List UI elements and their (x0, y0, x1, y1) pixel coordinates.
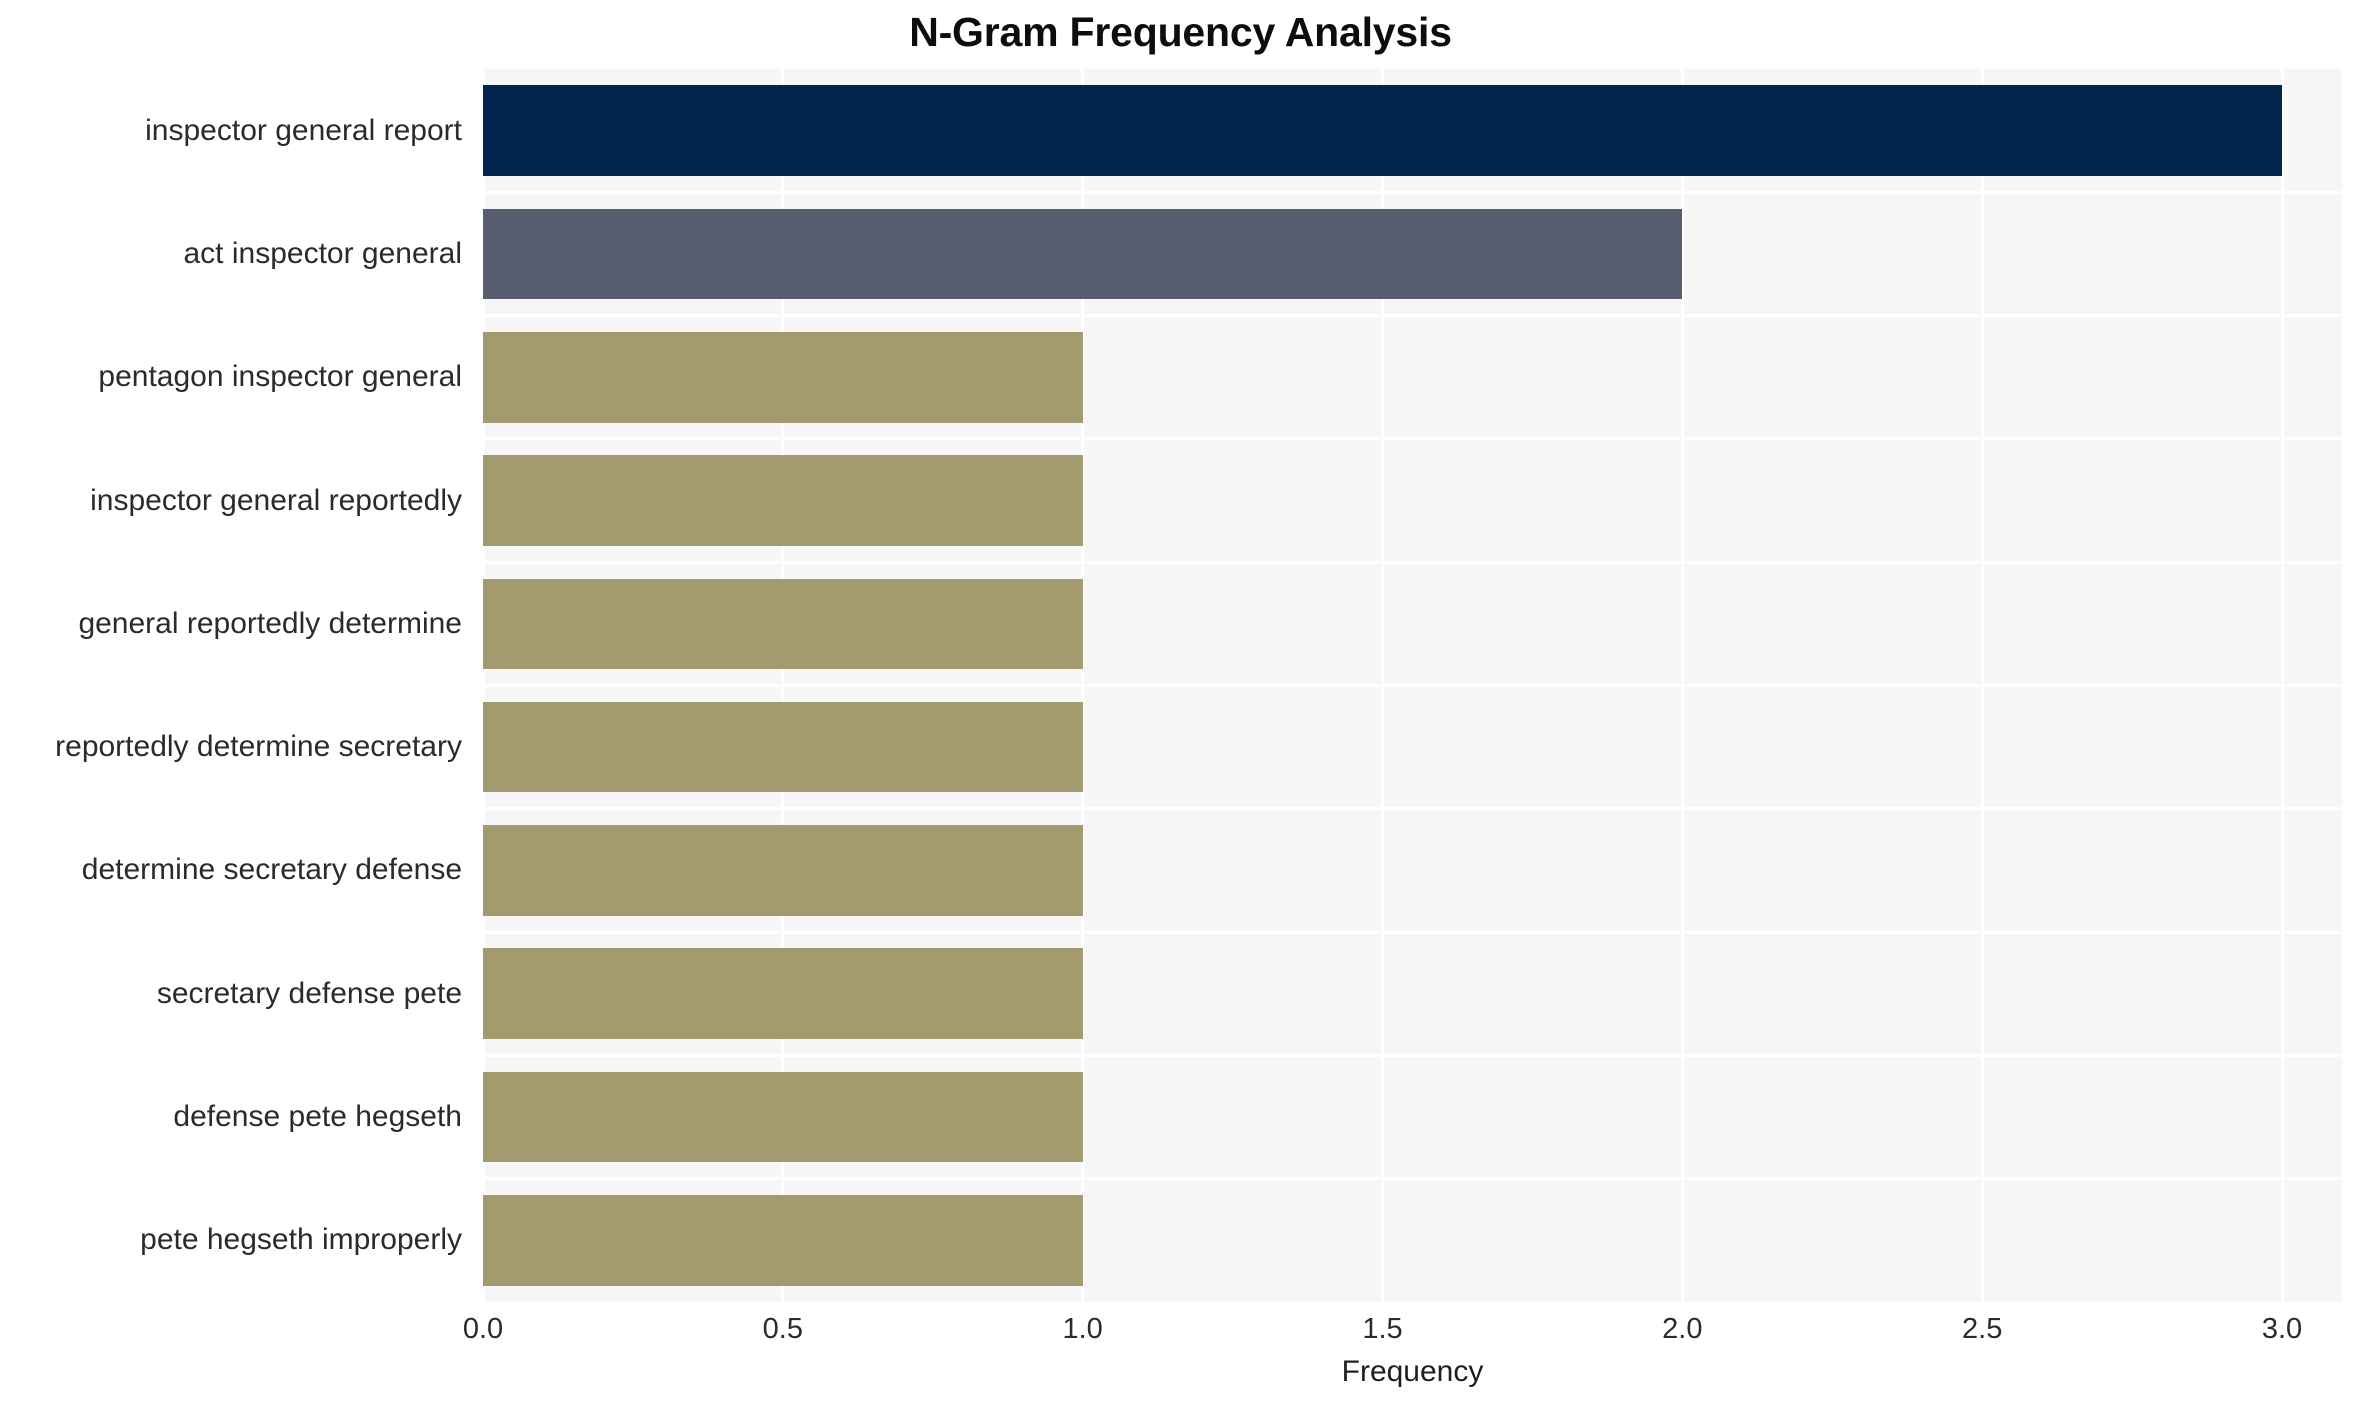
bar-row (483, 825, 2342, 916)
bar[interactable] (483, 209, 1682, 300)
x-axis-tick-label: 3.0 (2202, 1312, 2361, 1346)
x-axis-tick-label: 1.5 (1303, 1312, 1463, 1346)
y-axis-tick-label: inspector general reportedly (0, 484, 462, 518)
plot-area (483, 69, 2342, 1302)
x-axis-tick-label: 1.0 (1003, 1312, 1163, 1346)
x-axis-label: Frequency (483, 1354, 2342, 1390)
y-axis-tick-label: inspector general report (0, 114, 462, 148)
gridline-horizontal (483, 1177, 2342, 1180)
y-axis-tick-label: defense pete hegseth (0, 1100, 462, 1134)
x-axis-tick-label: 0.0 (403, 1312, 563, 1346)
bar-row (483, 1072, 2342, 1163)
bar[interactable] (483, 85, 2282, 176)
gridline-horizontal (483, 437, 2342, 440)
bar-row (483, 209, 2342, 300)
gridline-horizontal (483, 1054, 2342, 1057)
y-axis-tick-label: act inspector general (0, 237, 462, 271)
x-axis-tick-label: 2.0 (1602, 1312, 1762, 1346)
x-axis-tick-label: 2.5 (1902, 1312, 2062, 1346)
x-axis-tick-label: 0.5 (703, 1312, 863, 1346)
bar-row (483, 455, 2342, 546)
bar-row (483, 85, 2342, 176)
y-axis-tick-label: reportedly determine secretary (0, 730, 462, 764)
bar[interactable] (483, 455, 1083, 546)
gridline-horizontal (483, 807, 2342, 810)
bar[interactable] (483, 332, 1083, 423)
bar-row (483, 332, 2342, 423)
bar[interactable] (483, 1195, 1083, 1286)
chart-title: N-Gram Frequency Analysis (0, 8, 2361, 56)
bar[interactable] (483, 825, 1083, 916)
gridline-horizontal (483, 314, 2342, 317)
bar[interactable] (483, 702, 1083, 793)
y-axis-tick-label: determine secretary defense (0, 853, 462, 887)
bar[interactable] (483, 579, 1083, 670)
bar-row (483, 702, 2342, 793)
bar-row (483, 579, 2342, 670)
gridline-horizontal (483, 191, 2342, 194)
chart-figure: N-Gram Frequency Analysis inspector gene… (0, 0, 2361, 1402)
bar-row (483, 948, 2342, 1039)
y-axis-tick-label: secretary defense pete (0, 977, 462, 1011)
bar-row (483, 1195, 2342, 1286)
bar[interactable] (483, 1072, 1083, 1163)
y-axis-tick-label: general reportedly determine (0, 607, 462, 641)
y-axis-tick-label: pete hegseth improperly (0, 1223, 462, 1257)
gridline-horizontal (483, 684, 2342, 687)
gridline-horizontal (483, 931, 2342, 934)
bar[interactable] (483, 948, 1083, 1039)
y-axis-tick-label: pentagon inspector general (0, 360, 462, 394)
gridline-horizontal (483, 561, 2342, 564)
